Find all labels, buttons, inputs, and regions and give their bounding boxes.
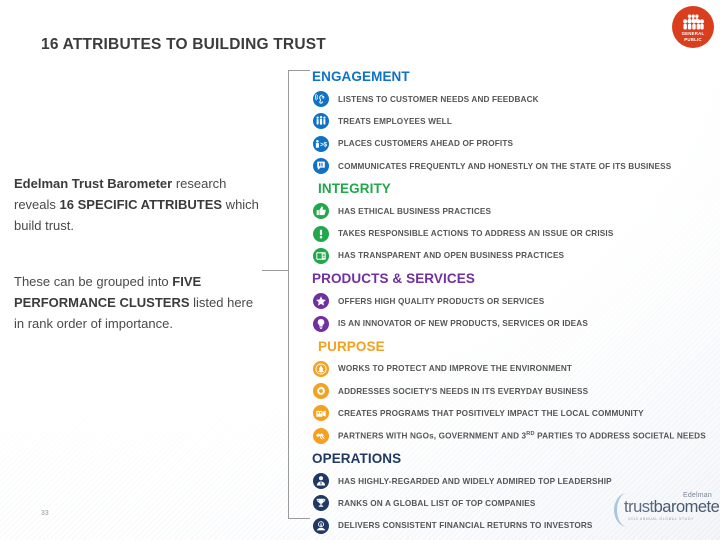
community-building-icon (313, 405, 329, 421)
attribute-clusters-list: ENGAGEMENTLISTENS TO CUSTOMER NEEDS AND … (312, 68, 712, 537)
attribute-label: COMMUNICATES FREQUENTLY AND HONESTLY ON … (338, 162, 671, 171)
attribute-label: DELIVERS CONSISTENT FINANCIAL RETURNS TO… (338, 521, 593, 530)
attribute-label: WORKS TO PROTECT AND IMPROVE THE ENVIRON… (338, 364, 572, 373)
attribute-row: ADDRESSES SOCIETY'S NEEDS IN ITS EVERYDA… (312, 380, 712, 402)
attribute-row: >$PLACES CUSTOMERS AHEAD OF PROFITS (312, 133, 712, 155)
logo-wordmark: trustbarometer (624, 498, 720, 517)
gear-society-icon (313, 383, 329, 399)
intro-paragraph-2: These can be grouped into FIVE PERFORMAN… (14, 271, 264, 334)
bracket-middle-connector (262, 270, 289, 271)
logo-word-barometer: barometer (654, 498, 720, 516)
customer-over-profit-icon: >$ (313, 136, 329, 152)
cluster-purpose: PURPOSEWORKS TO PROTECT AND IMPROVE THE … (312, 338, 712, 447)
cluster-heading: PRODUCTS & SERVICES (312, 270, 712, 288)
transparent-window-icon (313, 248, 329, 264)
thumbs-up-icon (313, 203, 329, 219)
attribute-row: HAS ETHICAL BUSINESS PRACTICES (312, 200, 712, 222)
employees-group-icon (313, 113, 329, 129)
slide-canvas: 16 ATTRIBUTES TO BUILDING TRUST GENERAL … (0, 0, 720, 540)
attribute-row: IS AN INNOVATOR OF NEW PRODUCTS, SERVICE… (312, 312, 712, 334)
svg-text:$: $ (323, 141, 327, 148)
attribute-label: OFFERS HIGH QUALITY PRODUCTS OR SERVICES (338, 297, 544, 306)
handshake-icon (313, 428, 329, 444)
logo-word-trust: trust (624, 498, 654, 516)
attribute-row: TREATS EMPLOYEES WELL (312, 110, 712, 132)
attribute-label: PARTNERS WITH NGOs, GOVERNMENT AND 3RD P… (338, 431, 706, 441)
attribute-label: ADDRESSES SOCIETY'S NEEDS IN ITS EVERYDA… (338, 387, 588, 396)
leader-person-icon (313, 473, 329, 489)
general-public-badge: GENERAL PUBLIC (672, 6, 714, 48)
cluster-heading: PURPOSE (318, 338, 712, 356)
attribute-label: HAS HIGHLY-REGARDED AND WIDELY ADMIRED T… (338, 477, 612, 486)
cluster-engagement: ENGAGEMENTLISTENS TO CUSTOMER NEEDS AND … (312, 68, 712, 177)
attribute-label: PLACES CUSTOMERS AHEAD OF PROFITS (338, 139, 513, 148)
attribute-label: CREATES PROGRAMS THAT POSITIVELY IMPACT … (338, 409, 644, 418)
intro-bold-edelman: Edelman Trust Barometer (14, 176, 172, 191)
attribute-label: HAS TRANSPARENT AND OPEN BUSINESS PRACTI… (338, 251, 564, 260)
attribute-label: TAKES RESPONSIBLE ACTIONS TO ADDRESS AN … (338, 229, 613, 238)
ordinal-superscript: RD (526, 431, 534, 437)
intro-bold-16-specific: 16 SPECIFIC ATTRIBUTES (60, 197, 223, 212)
attribute-row: HAS HIGHLY-REGARDED AND WIDELY ADMIRED T… (312, 470, 712, 492)
speech-bubble-icon (313, 158, 329, 174)
cluster-heading: INTEGRITY (318, 180, 712, 198)
attribute-row: LISTENS TO CUSTOMER NEEDS AND FEEDBACK (312, 88, 712, 110)
attribute-label: IS AN INNOVATOR OF NEW PRODUCTS, SERVICE… (338, 319, 588, 328)
cluster-heading: ENGAGEMENT (312, 68, 712, 86)
bracket-top-tick (288, 70, 310, 71)
exclamation-icon (313, 226, 329, 242)
page-number: 33 (41, 510, 49, 517)
page-title: 16 ATTRIBUTES TO BUILDING TRUST (41, 36, 326, 54)
attribute-label: RANKS ON A GLOBAL LIST OF TOP COMPANIES (338, 499, 536, 508)
edelman-trust-barometer-logo: Edelman trustbarometer 2013 ANNUAL GLOBA… (612, 491, 714, 531)
badge-label-line1: GENERAL (682, 31, 705, 36)
attribute-row: COMMUNICATES FREQUENTLY AND HONESTLY ON … (312, 155, 712, 177)
attribute-row: PARTNERS WITH NGOs, GOVERNMENT AND 3RD P… (312, 425, 712, 447)
logo-tagline: 2013 ANNUAL GLOBAL STUDY (628, 517, 694, 521)
people-group-icon (681, 14, 705, 30)
attribute-label: HAS ETHICAL BUSINESS PRACTICES (338, 207, 491, 216)
star-icon (313, 293, 329, 309)
cluster-products-services: PRODUCTS & SERVICESOFFERS HIGH QUALITY P… (312, 270, 712, 335)
bracket-vertical-line (288, 70, 289, 519)
cluster-integrity: INTEGRITYHAS ETHICAL BUSINESS PRACTICEST… (312, 180, 712, 267)
attribute-row: CREATES PROGRAMS THAT POSITIVELY IMPACT … (312, 402, 712, 424)
attribute-label: TREATS EMPLOYEES WELL (338, 117, 452, 126)
badge-label-line2: PUBLIC (684, 37, 702, 42)
attribute-row: HAS TRANSPARENT AND OPEN BUSINESS PRACTI… (312, 245, 712, 267)
tree-environment-icon (313, 361, 329, 377)
financial-returns-icon: $ (313, 518, 329, 534)
attribute-row: TAKES RESPONSIBLE ACTIONS TO ADDRESS AN … (312, 222, 712, 244)
bracket-bottom-tick (288, 518, 310, 519)
intro-paragraph-1: Edelman Trust Barometer research reveals… (14, 173, 264, 236)
attribute-row: OFFERS HIGH QUALITY PRODUCTS OR SERVICES (312, 290, 712, 312)
cluster-heading: OPERATIONS (312, 450, 712, 468)
attribute-label: LISTENS TO CUSTOMER NEEDS AND FEEDBACK (338, 95, 539, 104)
lightbulb-icon (313, 316, 329, 332)
attribute-row: WORKS TO PROTECT AND IMPROVE THE ENVIRON… (312, 358, 712, 380)
listening-ear-icon (313, 91, 329, 107)
trophy-icon (313, 495, 329, 511)
intro2-text-start: These can be grouped into (14, 274, 172, 289)
